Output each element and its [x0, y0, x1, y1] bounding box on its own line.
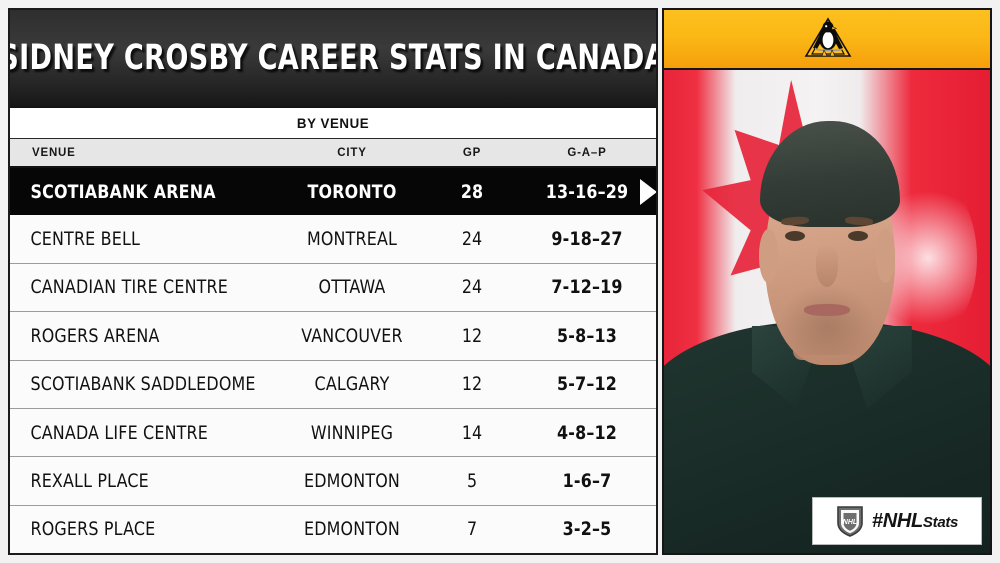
cell-gp: 12	[429, 373, 515, 395]
cell-venue: ROGERS PLACE	[10, 518, 259, 540]
subheader-label: BY VENUE	[297, 115, 369, 131]
cell-city: EDMONTON	[283, 518, 421, 540]
cell-gap: 4-8–12	[523, 422, 651, 444]
column-header-gp: GP	[426, 147, 518, 159]
cell-city: CALGARY	[283, 373, 421, 395]
jaw-shadow	[778, 283, 876, 355]
column-header-gap: G-A–P	[518, 147, 656, 159]
stats-table-card: SIDNEY CROSBY CAREER STATS IN CANADA BY …	[8, 8, 658, 555]
cell-gap: 5-7–12	[523, 373, 651, 395]
svg-text:NHL: NHL	[843, 519, 857, 526]
cell-gp: 14	[429, 422, 515, 444]
ear-left	[759, 229, 779, 282]
table-column-header: VENUE CITY GP G-A–P	[10, 138, 656, 168]
cell-gap: 9-18–27	[523, 228, 651, 250]
cell-venue: SCOTIABANK SADDLEDOME	[10, 373, 259, 395]
cell-gap: 13-16–29	[523, 181, 651, 203]
cell-venue: CANADIAN TIRE CENTRE	[10, 276, 259, 298]
cell-gp: 12	[429, 325, 515, 347]
cell-city: OTTAWA	[283, 276, 421, 298]
table-row[interactable]: CENTRE BELLMONTREAL249-18–27	[10, 215, 656, 263]
player-portrait	[664, 70, 990, 553]
table-row[interactable]: SCOTIABANK SADDLEDOMECALGARY125-7–12	[10, 361, 656, 409]
cell-gp: 24	[429, 276, 515, 298]
cell-venue: REXALL PLACE	[10, 470, 259, 492]
cell-venue: CENTRE BELL	[10, 228, 259, 250]
cell-gap: 3-2–5	[523, 518, 651, 540]
table-row[interactable]: REXALL PLACEEDMONTON51-6–7	[10, 457, 656, 505]
cell-city: MONTREAL	[283, 228, 421, 250]
cell-venue: CANADA LIFE CENTRE	[10, 422, 259, 444]
nhl-stats-badge: NHL #NHLStats	[812, 497, 982, 545]
column-header-city: CITY	[278, 147, 426, 159]
cell-venue: SCOTIABANK ARENA	[10, 181, 259, 203]
pittsburgh-penguins-logo-icon	[800, 17, 854, 61]
ear-right	[876, 229, 896, 282]
mouth	[804, 304, 850, 316]
badge-stats-text: Stats	[923, 514, 958, 531]
cell-city: TORONTO	[283, 181, 421, 203]
table-row[interactable]: ROGERS ARENAVANCOUVER125-8–13	[10, 312, 656, 360]
cell-gap: 1-6–7	[523, 470, 651, 492]
right-column: NHL #NHLStats	[662, 8, 992, 555]
cell-city: EDMONTON	[283, 470, 421, 492]
column-header-venue: VENUE	[10, 147, 278, 159]
subheader-band: BY VENUE	[10, 106, 656, 138]
table-row[interactable]: CANADIAN TIRE CENTREOTTAWA247-12–19	[10, 264, 656, 312]
cell-gap: 5-8–13	[523, 325, 651, 347]
nhl-stats-wordmark: #NHLStats	[872, 510, 958, 533]
table-row[interactable]: SCOTIABANK ARENATORONTO2813-16–29	[10, 168, 656, 215]
nhl-stats-graphic: SIDNEY CROSBY CAREER STATS IN CANADA BY …	[0, 0, 1000, 563]
row-pointer-icon	[640, 179, 657, 205]
table-body: SCOTIABANK ARENATORONTO2813-16–29CENTRE …	[10, 168, 656, 553]
cell-city: WINNIPEG	[283, 422, 421, 444]
title-band: SIDNEY CROSBY CAREER STATS IN CANADA	[10, 10, 656, 106]
table-row[interactable]: CANADA LIFE CENTREWINNIPEG144-8–12	[10, 409, 656, 457]
team-logo-bar	[662, 8, 992, 70]
hair	[760, 121, 900, 227]
page-title: SIDNEY CROSBY CAREER STATS IN CANADA	[10, 41, 656, 76]
cell-venue: ROGERS ARENA	[10, 325, 259, 347]
table-row[interactable]: ROGERS PLACEEDMONTON73-2–5	[10, 506, 656, 553]
cell-gp: 28	[429, 181, 515, 203]
badge-hash-text: #NHL	[872, 510, 923, 532]
cell-gp: 5	[429, 470, 515, 492]
cell-gp: 24	[429, 228, 515, 250]
cell-gp: 7	[429, 518, 515, 540]
nhl-shield-icon: NHL	[836, 505, 864, 537]
player-photo: NHL #NHLStats	[662, 70, 992, 555]
cell-city: VANCOUVER	[283, 325, 421, 347]
cell-gap: 7-12–19	[523, 276, 651, 298]
